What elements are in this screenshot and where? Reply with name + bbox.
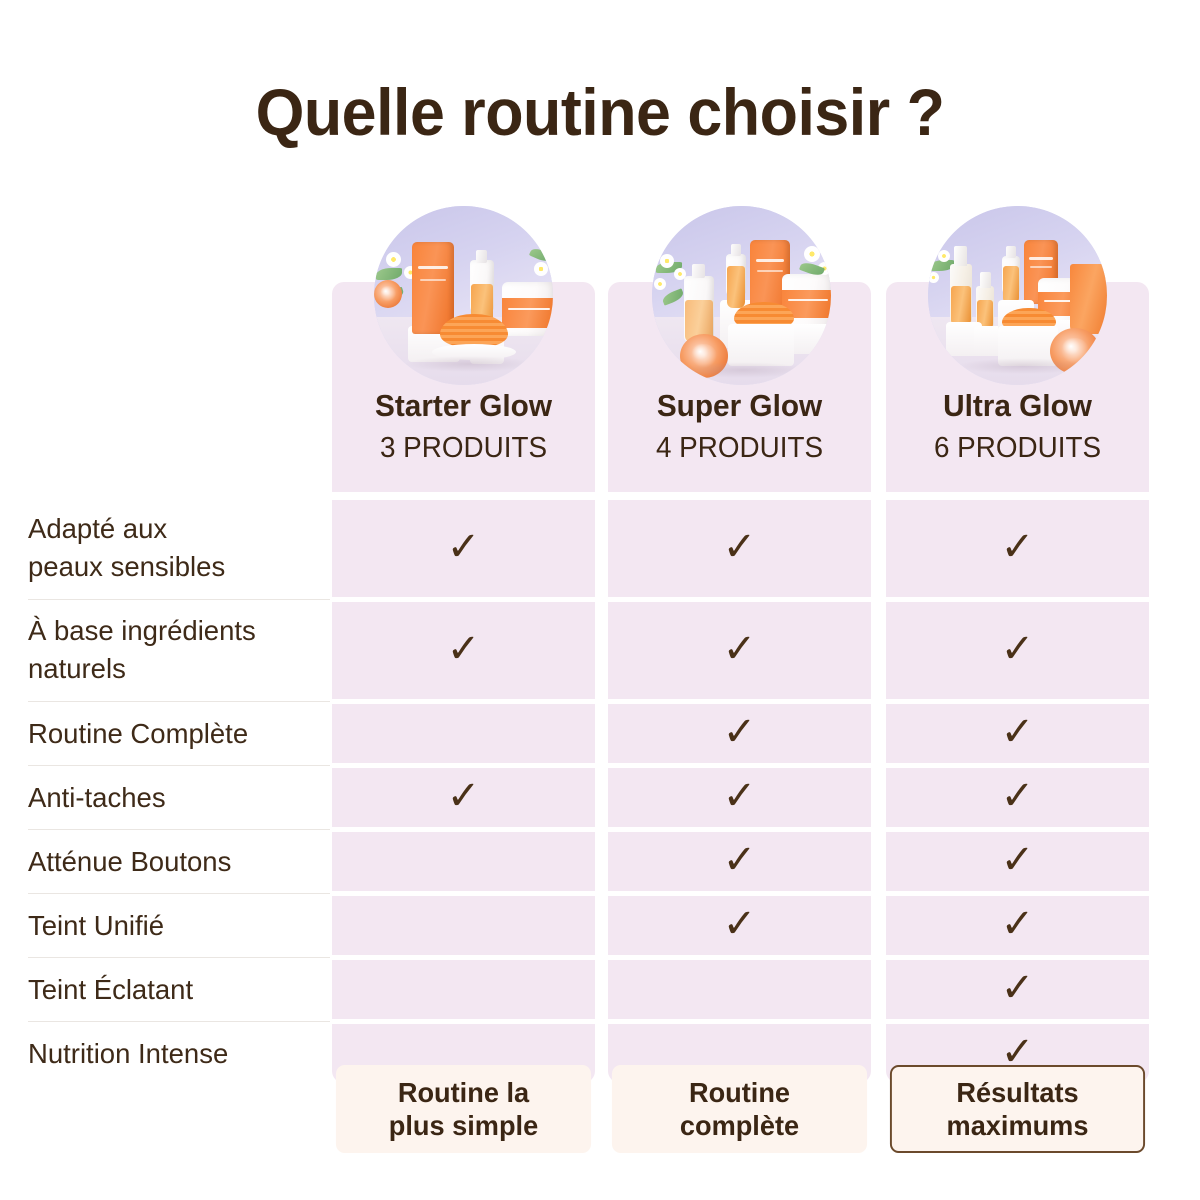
column-products-super-glow: 4 PRODUITS xyxy=(613,432,865,465)
ultra-glow-product-photo xyxy=(928,206,1107,385)
row-label-8: Nutrition Intense xyxy=(28,1035,328,1073)
page-title: Quelle routine choisir ? xyxy=(30,74,1170,150)
column-title-starter-glow: Starter Glow xyxy=(337,388,589,424)
check-icon-r7-c3: ✓ xyxy=(886,968,1149,1008)
footer-line2-super-glow: complète xyxy=(680,1109,799,1142)
row-label-line1-6: Teint Unifié xyxy=(28,907,328,945)
column-title-super-glow: Super Glow xyxy=(613,388,865,424)
footer-card-starter-glow[interactable]: Routine la plus simple xyxy=(336,1065,591,1153)
check-icon-r4-c3: ✓ xyxy=(886,776,1149,816)
check-icon-r5-c2: ✓ xyxy=(608,840,871,880)
cell-r3-c1 xyxy=(332,704,595,763)
row-label-line2-2: naturels xyxy=(28,650,328,688)
row-label-4: Anti-taches xyxy=(28,779,328,817)
check-icon-r5-c3: ✓ xyxy=(886,840,1149,880)
check-icon-r3-c3: ✓ xyxy=(886,712,1149,752)
row-label-line1-8: Nutrition Intense xyxy=(28,1035,328,1073)
check-icon-r2-c1: ✓ xyxy=(332,629,595,669)
row-label-7: Teint Éclatant xyxy=(28,971,328,1009)
row-divider-4 xyxy=(28,829,330,830)
row-label-3: Routine Complète xyxy=(28,715,328,753)
check-icon-r4-c1: ✓ xyxy=(332,776,595,816)
row-label-5: Atténue Boutons xyxy=(28,843,328,881)
cell-r5-c1 xyxy=(332,832,595,891)
row-divider-5 xyxy=(28,893,330,894)
footer-line2-starter-glow: plus simple xyxy=(389,1109,538,1142)
comparison-table-page: Quelle routine choisir ? xyxy=(0,0,1200,1200)
row-label-line1-7: Teint Éclatant xyxy=(28,971,328,1009)
row-divider-1 xyxy=(28,599,330,600)
check-icon-r1-c1: ✓ xyxy=(332,527,595,567)
check-icon-r2-c2: ✓ xyxy=(608,629,871,669)
check-icon-r2-c3: ✓ xyxy=(886,629,1149,669)
footer-line1-ultra-glow: Résultats xyxy=(947,1076,1089,1109)
row-label-line1-3: Routine Complète xyxy=(28,715,328,753)
footer-line2-ultra-glow: maximums xyxy=(947,1109,1089,1142)
row-label-1: Adapté auxpeaux sensibles xyxy=(28,510,328,586)
row-divider-3 xyxy=(28,765,330,766)
check-icon-r3-c2: ✓ xyxy=(608,712,871,752)
check-icon-r4-c2: ✓ xyxy=(608,776,871,816)
row-divider-7 xyxy=(28,1021,330,1022)
row-label-2: À base ingrédientsnaturels xyxy=(28,612,328,688)
row-label-6: Teint Unifié xyxy=(28,907,328,945)
row-label-line1-5: Atténue Boutons xyxy=(28,843,328,881)
check-icon-r1-c3: ✓ xyxy=(886,527,1149,567)
check-icon-r1-c2: ✓ xyxy=(608,527,871,567)
row-divider-2 xyxy=(28,701,330,702)
column-products-ultra-glow: 6 PRODUITS xyxy=(891,432,1143,465)
row-divider-6 xyxy=(28,957,330,958)
row-label-line1-2: À base ingrédients xyxy=(28,612,328,650)
check-icon-r6-c2: ✓ xyxy=(608,904,871,944)
starter-glow-product-photo xyxy=(374,206,553,385)
footer-line1-starter-glow: Routine la xyxy=(389,1076,538,1109)
footer-card-super-glow[interactable]: Routine complète xyxy=(612,1065,867,1153)
cell-r7-c1 xyxy=(332,960,595,1019)
footer-line1-super-glow: Routine xyxy=(680,1076,799,1109)
check-icon-r6-c3: ✓ xyxy=(886,904,1149,944)
cell-r7-c2 xyxy=(608,960,871,1019)
footer-card-ultra-glow[interactable]: Résultats maximums xyxy=(890,1065,1145,1153)
column-products-starter-glow: 3 PRODUITS xyxy=(337,432,589,465)
row-label-line2-1: peaux sensibles xyxy=(28,548,328,586)
row-label-line1-1: Adapté aux xyxy=(28,510,328,548)
cell-r6-c1 xyxy=(332,896,595,955)
column-title-ultra-glow: Ultra Glow xyxy=(891,388,1143,424)
super-glow-product-photo xyxy=(652,206,831,385)
row-label-line1-4: Anti-taches xyxy=(28,779,328,817)
